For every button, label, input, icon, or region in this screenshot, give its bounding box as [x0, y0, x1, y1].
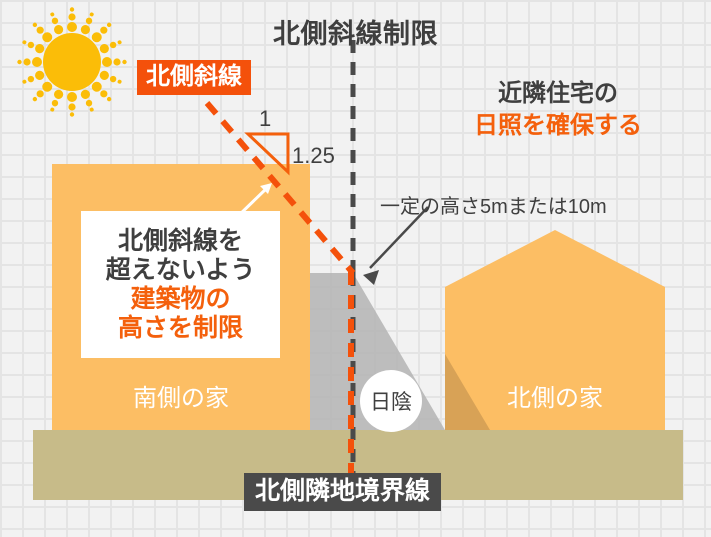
callout-line-2: 超えないよう: [106, 256, 256, 285]
ratio-run-label: 1: [259, 106, 271, 132]
callout-box: 北側斜線を 超えないよう 建築物の 高さを制限: [81, 211, 280, 358]
headline-line-2: 日照を確保する: [428, 110, 688, 142]
ratio-rise-label: 1.25: [292, 143, 335, 169]
callout-line-1: 北側斜線を: [118, 227, 243, 256]
headline-line-1: 近隣住宅の: [428, 78, 688, 110]
callout-line-3: 建築物の: [130, 285, 230, 314]
south-house-label: 南側の家: [52, 378, 310, 413]
setback-line-badge: 北側斜線: [137, 60, 251, 95]
headline-block: 近隣住宅の 日照を確保する: [428, 78, 688, 141]
height-note-label: 一定の高さ5mまたは10m: [380, 190, 607, 219]
callout-line-4: 高さを制限: [118, 314, 243, 343]
page-title: 北側斜線制限: [0, 12, 711, 51]
diagram-canvas: 北側斜線制限 近隣住宅の 日照を確保する 一定の高さ5mまたは10m 北側斜線 …: [0, 0, 711, 537]
shade-label: 日陰: [360, 370, 422, 432]
north-house-label: 北側の家: [445, 378, 665, 413]
boundary-line-badge: 北側隣地境界線: [244, 473, 441, 511]
